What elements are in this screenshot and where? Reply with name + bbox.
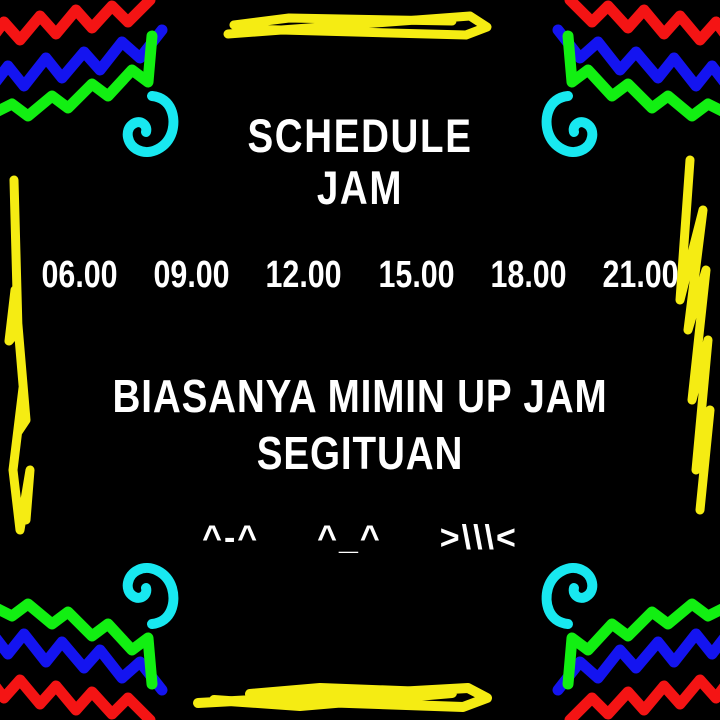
schedule-times-row: 06.00 09.00 12.00 15.00 18.00 21.00 (0, 253, 720, 297)
title-block: SCHEDULE JAM (0, 110, 720, 214)
schedule-poster: SCHEDULE JAM 06.00 09.00 12.00 15.00 18.… (0, 0, 720, 720)
message-block: BIASANYA MIMIN UP JAM SEGITUAN (0, 368, 720, 482)
kaomoji-happy-face: ^-^ (202, 518, 259, 558)
page-title-line-1: SCHEDULE (65, 110, 655, 162)
schedule-time-1: 09.00 (154, 253, 230, 297)
poster-content: SCHEDULE JAM 06.00 09.00 12.00 15.00 18.… (0, 0, 720, 720)
schedule-time-2: 12.00 (266, 253, 342, 297)
message-line-1: BIASANYA MIMIN UP JAM (58, 368, 663, 425)
schedule-time-0: 06.00 (42, 253, 118, 297)
schedule-time-4: 18.00 (490, 253, 566, 297)
kaomoji-smiling-face: ^_^ (317, 518, 382, 558)
message-line-2: SEGITUAN (58, 425, 663, 482)
page-title-line-2: JAM (65, 162, 655, 214)
schedule-time-3: 15.00 (378, 253, 454, 297)
kaomoji-row: ^-^ ^_^ >\\\< (0, 518, 720, 558)
kaomoji-blushing-face: >\\\< (440, 518, 518, 558)
schedule-time-5: 21.00 (602, 253, 678, 297)
